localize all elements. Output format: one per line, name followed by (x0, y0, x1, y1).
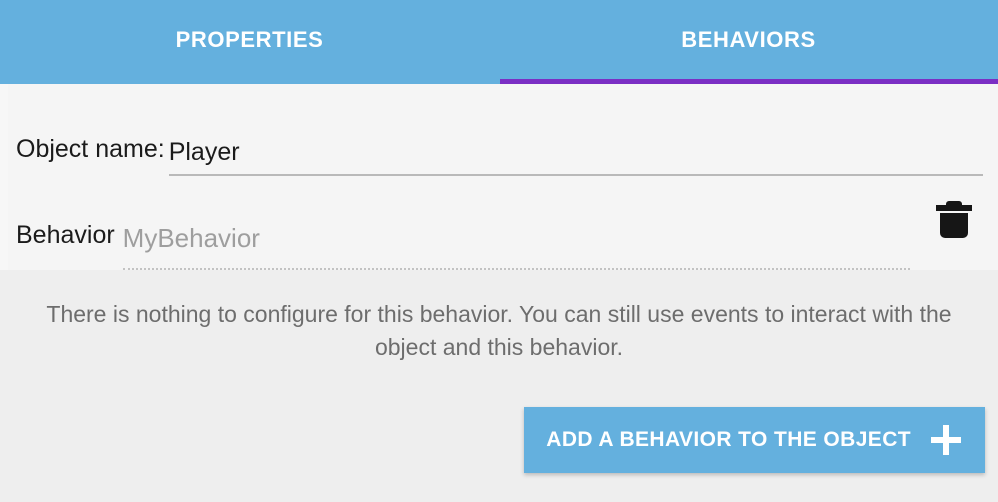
tab-properties[interactable]: PROPERTIES (0, 0, 499, 84)
tab-properties-label: PROPERTIES (176, 27, 324, 53)
behavior-name-input[interactable] (123, 224, 910, 253)
object-editor-panel: PROPERTIES BEHAVIORS Object name: Behavi… (0, 0, 998, 502)
add-behavior-button[interactable]: ADD A BEHAVIOR TO THE OBJECT (524, 407, 985, 473)
add-behavior-button-label: ADD A BEHAVIOR TO THE OBJECT (546, 428, 911, 452)
action-button-row: ADD A BEHAVIOR TO THE OBJECT (524, 407, 985, 473)
tab-bar: PROPERTIES BEHAVIORS (0, 0, 998, 84)
object-name-label: Object name: (16, 137, 165, 176)
behavior-field-wrap (123, 224, 910, 270)
tab-behaviors[interactable]: BEHAVIORS (499, 0, 998, 84)
behavior-label: Behavior (16, 223, 115, 270)
object-name-field-wrap (169, 139, 983, 177)
plus-icon (931, 425, 961, 455)
object-name-input[interactable] (169, 139, 983, 167)
tab-behaviors-label: BEHAVIORS (681, 27, 816, 53)
object-name-row: Object name: (0, 84, 998, 176)
trash-icon (935, 198, 973, 240)
empty-state-message: There is nothing to configure for this b… (40, 298, 958, 365)
form-area: Object name: Behavior (0, 84, 998, 270)
behavior-row: Behavior (0, 176, 998, 270)
delete-behavior-button[interactable] (910, 176, 998, 270)
behavior-config-panel: There is nothing to configure for this b… (0, 270, 998, 502)
